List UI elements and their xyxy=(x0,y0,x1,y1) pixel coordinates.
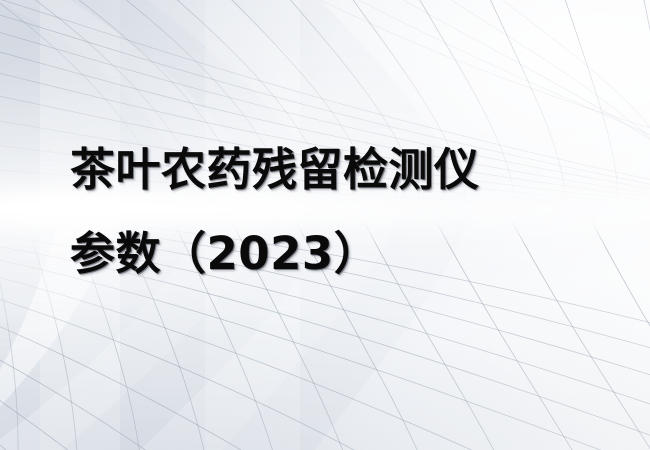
title-line-primary: 茶叶农药残留检测仪 xyxy=(70,128,610,212)
title-banner: 茶叶农药残留检测仪 参数（2023） xyxy=(0,0,650,450)
title-line-secondary: 参数（2023） xyxy=(70,212,610,296)
banner-title: 茶叶农药残留检测仪 参数（2023） xyxy=(70,128,610,296)
